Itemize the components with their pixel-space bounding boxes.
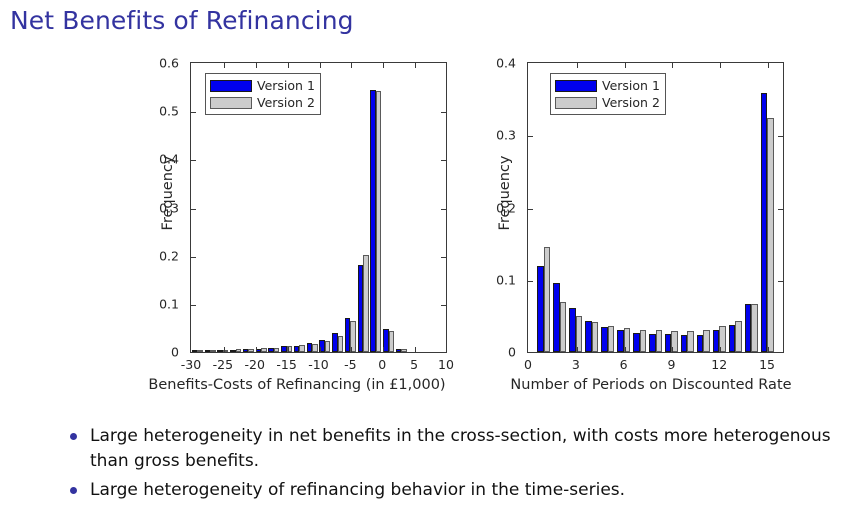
y-tick-mark — [778, 209, 783, 210]
bullet-dot-icon — [70, 487, 77, 494]
y-tick-mark — [778, 281, 783, 282]
x-tick-mark — [625, 347, 626, 352]
x-tick-mark — [415, 347, 416, 352]
y-tick-mark — [528, 136, 533, 137]
x-tick-mark — [577, 63, 578, 68]
y-tick-label: 0.1 — [159, 296, 186, 311]
bar-version-2-8 — [656, 330, 663, 352]
y-tick-mark — [191, 305, 196, 306]
y-axis-title-left: Frequency — [160, 133, 176, 253]
legend-row-version-2: Version 2 — [555, 94, 660, 111]
x-tick-mark — [256, 63, 257, 68]
bar-version-2--29 — [197, 350, 203, 352]
legend-swatch-version-1 — [555, 80, 597, 92]
legend-label-version-1: Version 1 — [602, 78, 660, 93]
x-tick-mark — [768, 347, 769, 352]
y-tick-mark — [191, 209, 196, 210]
x-tick-mark — [625, 63, 626, 68]
y-tick-mark — [191, 112, 196, 113]
page-title: Net Benefits of Refinancing — [10, 6, 354, 35]
x-tick-label: -15 — [276, 357, 296, 372]
y-tick-label: 0.6 — [159, 56, 186, 71]
bar-version-2--17 — [274, 348, 280, 352]
x-tick-label: 0 — [378, 357, 386, 372]
bar-version-2--7 — [338, 336, 344, 352]
y-tick-mark — [528, 281, 533, 282]
x-tick-mark — [672, 347, 673, 352]
bullet-item: Large heterogeneity of refinancing behav… — [62, 478, 832, 503]
x-tick-mark — [256, 347, 257, 352]
y-tick-mark — [191, 160, 196, 161]
x-tick-mark — [720, 347, 721, 352]
x-tick-mark — [415, 63, 416, 68]
y-tick-mark — [441, 209, 446, 210]
legend-label-version-2: Version 2 — [257, 95, 315, 110]
legend-row-version-1: Version 1 — [555, 77, 660, 94]
legend-row-version-2: Version 2 — [210, 94, 315, 111]
x-tick-label: 5 — [410, 357, 418, 372]
x-tick-mark — [320, 63, 321, 68]
bar-version-2-1 — [544, 247, 551, 352]
bar-version-2-4 — [592, 322, 599, 352]
x-tick-mark — [224, 63, 225, 68]
legend-left: Version 1 Version 2 — [205, 73, 321, 115]
bar-version-2-11 — [703, 330, 710, 352]
plot-area-left: Version 1 Version 2 — [190, 62, 447, 353]
x-tick-label: 9 — [667, 357, 675, 372]
y-tick-label: 0.1 — [496, 272, 523, 287]
x-tick-label: -25 — [213, 357, 233, 372]
x-tick-mark — [383, 63, 384, 68]
bar-version-2-3 — [401, 349, 407, 352]
plot-area-right: Version 1 Version 2 — [527, 62, 784, 353]
x-tick-label: 15 — [759, 357, 775, 372]
bullet-text: Large heterogeneity of refinancing behav… — [90, 480, 625, 500]
bar-version-2--1 — [376, 91, 382, 352]
bar-version-2-10 — [687, 331, 694, 352]
y-tick-mark — [441, 305, 446, 306]
bar-version-2--3 — [363, 255, 369, 352]
bar-version-2-2 — [560, 302, 567, 352]
legend-swatch-version-2 — [555, 97, 597, 109]
bar-version-2-1 — [389, 331, 395, 352]
x-tick-mark — [288, 347, 289, 352]
bar-version-2--19 — [261, 348, 267, 352]
y-tick-mark — [441, 112, 446, 113]
x-tick-label: -20 — [245, 357, 265, 372]
x-tick-mark — [383, 347, 384, 352]
y-tick-mark — [778, 136, 783, 137]
bar-version-2-5 — [608, 326, 615, 352]
y-axis-title-right: Frequency — [497, 133, 513, 253]
x-tick-label: 3 — [572, 357, 580, 372]
y-tick-label: 0.4 — [496, 56, 523, 71]
x-tick-label: 12 — [711, 357, 727, 372]
x-tick-label: -30 — [181, 357, 201, 372]
x-tick-mark — [351, 63, 352, 68]
y-tick-mark — [441, 160, 446, 161]
bar-version-2--13 — [299, 345, 305, 352]
bar-version-2--9 — [325, 341, 331, 352]
x-tick-mark — [320, 347, 321, 352]
bar-version-2-13 — [735, 321, 742, 352]
x-tick-mark — [224, 347, 225, 352]
x-tick-mark — [768, 63, 769, 68]
bar-version-2--27 — [210, 350, 216, 352]
x-tick-mark — [720, 63, 721, 68]
x-axis-title-right: Number of Periods on Discounted Rate — [491, 377, 811, 393]
legend-row-version-1: Version 1 — [210, 77, 315, 94]
legend-swatch-version-1 — [210, 80, 252, 92]
bar-version-2-15 — [767, 118, 774, 352]
x-axis-title-left: Benefits-Costs of Refinancing (in £1,000… — [142, 377, 452, 393]
y-tick-mark — [441, 257, 446, 258]
bar-version-2-7 — [640, 330, 647, 352]
bar-version-2-14 — [751, 304, 758, 352]
x-tick-mark — [672, 63, 673, 68]
bar-version-2--21 — [248, 349, 254, 352]
legend-label-version-2: Version 2 — [602, 95, 660, 110]
y-tick-label: 0 — [508, 345, 523, 360]
legend-label-version-1: Version 1 — [257, 78, 315, 93]
bar-version-2--11 — [312, 344, 318, 352]
x-tick-label: 10 — [438, 357, 454, 372]
legend-right: Version 1 Version 2 — [550, 73, 666, 115]
y-tick-label: 0.5 — [159, 104, 186, 119]
bullet-item: Large heterogeneity in net benefits in t… — [62, 424, 832, 474]
x-tick-mark — [288, 63, 289, 68]
x-tick-label: -10 — [308, 357, 328, 372]
bullet-list: Large heterogeneity in net benefits in t… — [62, 424, 832, 507]
x-tick-mark — [351, 347, 352, 352]
bullet-text: Large heterogeneity in net benefits in t… — [90, 426, 831, 471]
x-tick-label: 6 — [620, 357, 628, 372]
x-tick-mark — [577, 347, 578, 352]
bar-version-2--23 — [236, 349, 242, 352]
y-tick-mark — [528, 209, 533, 210]
legend-swatch-version-2 — [210, 97, 252, 109]
y-tick-mark — [191, 257, 196, 258]
x-tick-label: 0 — [524, 357, 532, 372]
x-tick-label: -5 — [344, 357, 356, 372]
bullet-dot-icon — [70, 433, 77, 440]
